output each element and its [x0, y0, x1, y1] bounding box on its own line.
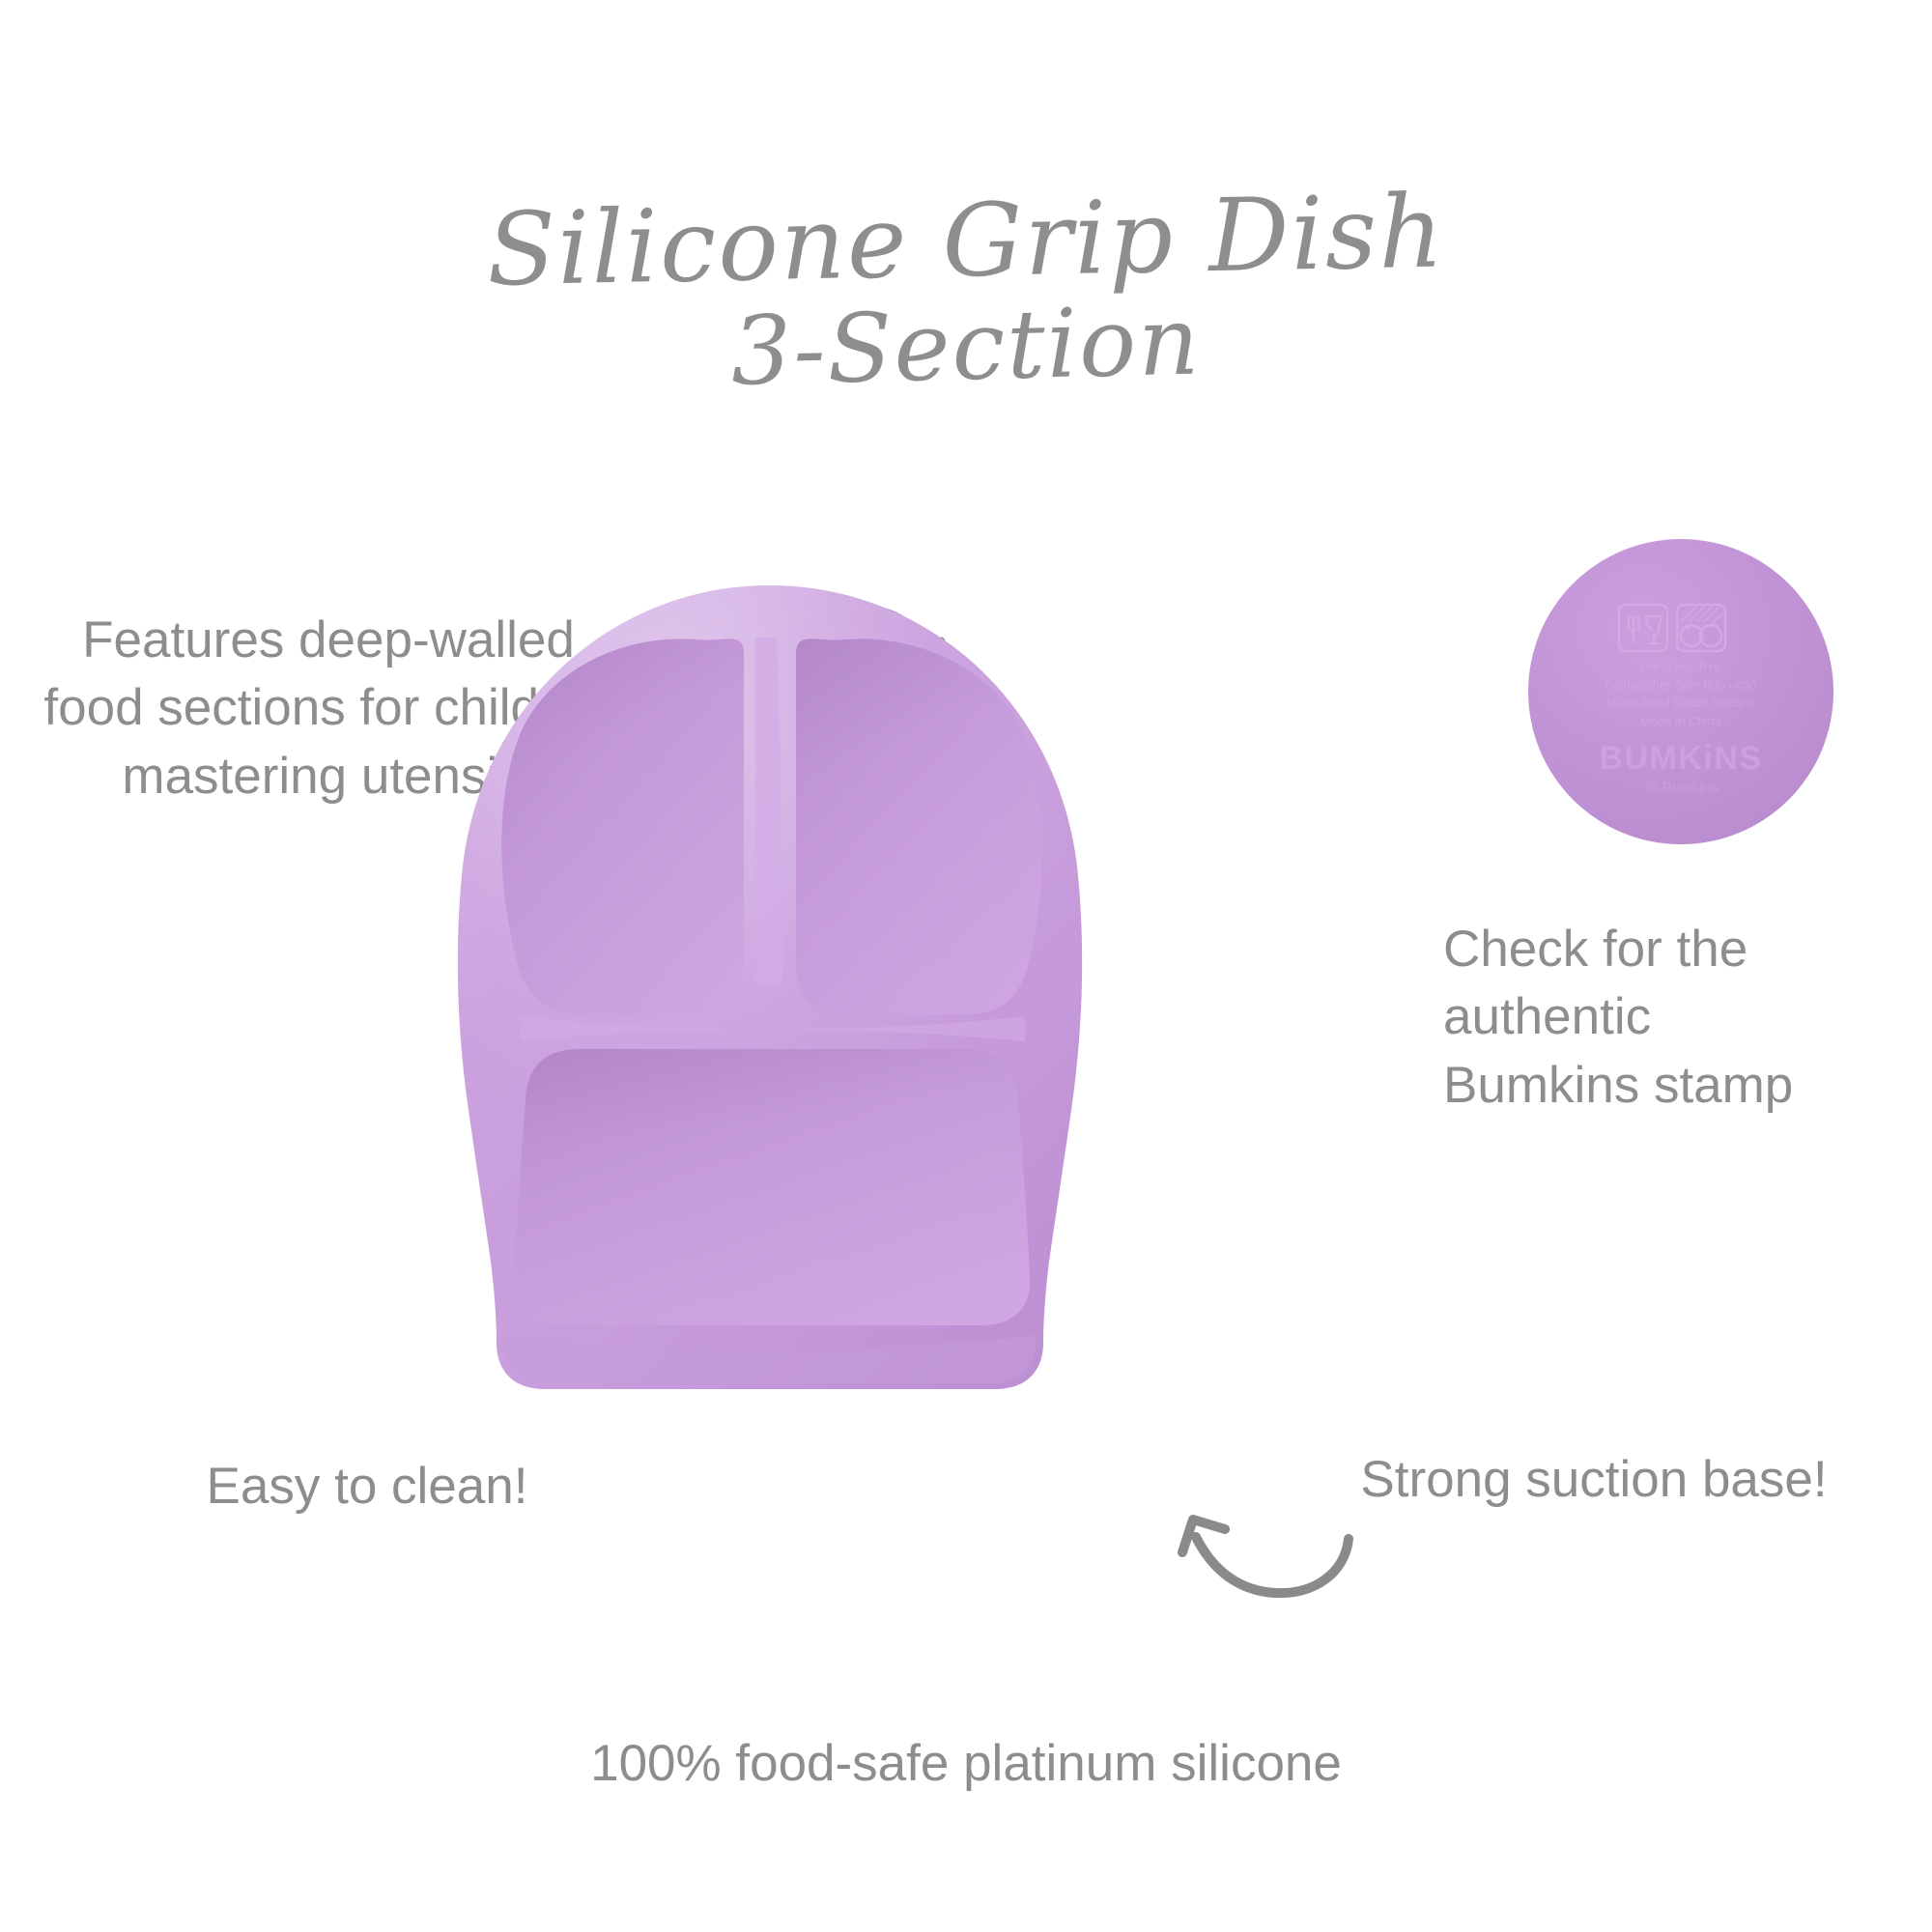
callout-stamp-text: Check for the authentic Bumkins stamp [1443, 916, 1897, 1120]
stamp-line-3: 100% Food Grade Silicone [1605, 696, 1755, 710]
stamp-brand-logo: BUMKiNS [1599, 740, 1762, 777]
bumkins-stamp-photo: Hand Wash or Dishwasher Safe (top rack) … [1517, 533, 1845, 862]
center-divider-ridge [755, 638, 782, 985]
callout-easy-to-clean-text: Easy to clean! [58, 1454, 676, 1520]
upper-right-section [796, 639, 1042, 1014]
stamp-illustration: Hand Wash or Dishwasher Safe (top rack) … [1517, 533, 1845, 862]
stamp-disc [1528, 539, 1833, 844]
callout-suction-base-text: Strong suction base! [1285, 1447, 1903, 1514]
stamp-line-4: Made in China [1640, 714, 1722, 728]
stamp-line-2: Dishwasher Safe (top rack) [1605, 677, 1757, 692]
stamp-line-1: Hand Wash or [1641, 659, 1721, 673]
page-title-line-1: Silicone Grip Dish [0, 171, 1932, 310]
stamp-brand-handle: @ Bumkins [1644, 780, 1719, 796]
plate-illustration [437, 580, 1103, 1410]
callout-footer-text: 100% food-safe platinum silicone [0, 1731, 1932, 1798]
arc-arrow-up-left-icon [1140, 1492, 1430, 1666]
page-title-line-2: 3-Section [0, 277, 1932, 417]
bottom-section [514, 1049, 1030, 1325]
page-title: Silicone Grip Dish 3-Section [0, 189, 1932, 396]
product-image-silicone-grip-dish [437, 580, 1103, 1410]
infographic-canvas: Silicone Grip Dish 3-Section Features de… [0, 0, 1932, 1932]
